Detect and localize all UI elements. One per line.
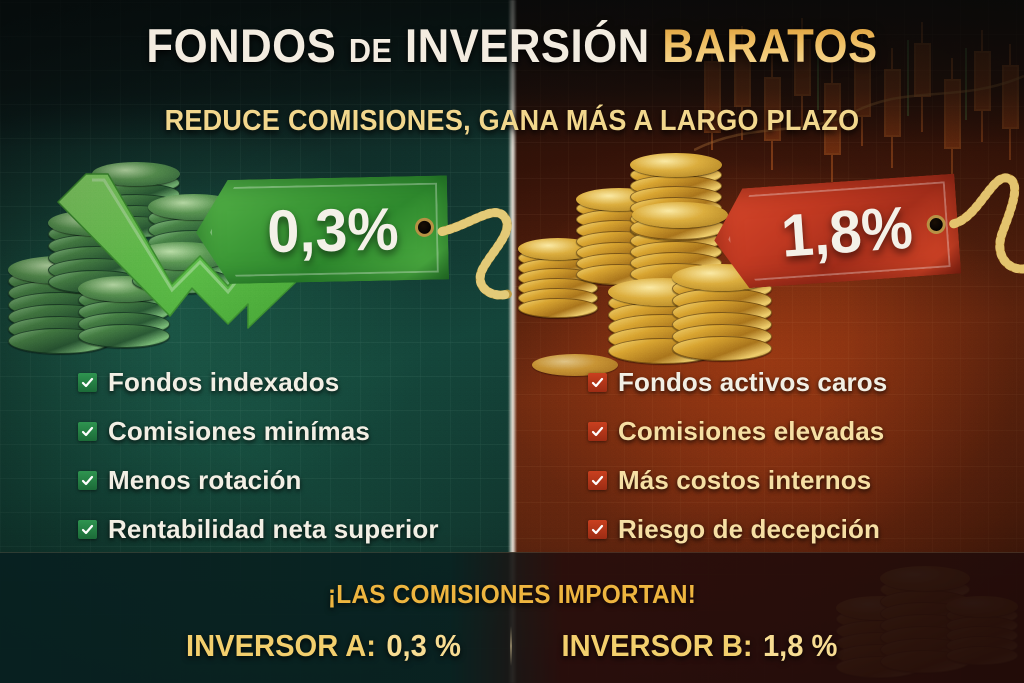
list-item: Fondos indexados xyxy=(78,358,439,407)
infographic-poster: FONDOS DE INVERSIÓN BARATOS REDUCE COMIS… xyxy=(0,0,1024,683)
list-item-label: Riesgo de decepción xyxy=(618,514,880,545)
drawbacks-list-right: Fondos activos caros Comisiones elevadas… xyxy=(588,358,887,554)
list-item: Más costos internos xyxy=(588,456,887,505)
check-icon xyxy=(588,520,607,539)
check-icon xyxy=(588,471,607,490)
list-item: Comisiones elevadas xyxy=(588,407,887,456)
check-icon xyxy=(78,422,97,441)
investor-a-value: 0,3 % xyxy=(386,628,461,664)
check-icon xyxy=(588,373,607,392)
title-part1: FONDOS xyxy=(146,19,336,72)
list-item-label: Fondos activos caros xyxy=(618,367,887,398)
price-tag-green: 0,3% xyxy=(195,175,449,284)
list-item-label: Comisiones elevadas xyxy=(618,416,884,447)
benefits-list-left: Fondos indexados Comisiones minímas Meno… xyxy=(78,358,439,554)
list-item: Rentabilidad neta superior xyxy=(78,505,439,554)
investor-a-label: INVERSOR A: xyxy=(186,628,376,664)
list-item: Menos rotación xyxy=(78,456,439,505)
price-tag-green-value: 0,3% xyxy=(245,194,399,266)
investor-b-label: INVERSOR B: xyxy=(562,628,753,664)
price-tag-green-body: 0,3% xyxy=(195,175,449,284)
footer-headline: ¡LAS COMISIONES IMPORTAN! xyxy=(31,579,994,610)
investor-b-value: 1,8 % xyxy=(763,628,838,664)
list-item-label: Más costos internos xyxy=(618,465,871,496)
page-subtitle: REDUCE COMISIONES, GANA MÁS A LARGO PLAZ… xyxy=(36,105,988,138)
list-item: Riesgo de decepción xyxy=(588,505,887,554)
investor-b-stat: INVERSOR B: 1,8 % xyxy=(522,628,837,664)
check-icon xyxy=(588,422,607,441)
title-part3: INVERSIÓN xyxy=(405,19,650,72)
title-highlight: BARATOS xyxy=(662,19,877,72)
list-item-label: Rentabilidad neta superior xyxy=(108,514,439,545)
check-icon xyxy=(78,471,97,490)
footer-comparison-row: INVERSOR A: 0,3 % INVERSOR B: 1,8 % xyxy=(0,626,1024,666)
price-tag-red-body: 1,8% xyxy=(711,174,961,291)
page-title: FONDOS DE INVERSIÓN BARATOS xyxy=(36,22,988,69)
price-tag-red-value: 1,8% xyxy=(758,192,915,271)
footer-divider xyxy=(510,626,512,666)
list-item: Comisiones minímas xyxy=(78,407,439,456)
investor-a-stat: INVERSOR A: 0,3 % xyxy=(186,628,500,664)
list-item-label: Fondos indexados xyxy=(108,367,339,398)
check-icon xyxy=(78,373,97,392)
list-item-label: Menos rotación xyxy=(108,465,302,496)
check-icon xyxy=(78,520,97,539)
price-tag-red: 1,8% xyxy=(711,174,961,291)
list-item-label: Comisiones minímas xyxy=(108,416,370,447)
list-item: Fondos activos caros xyxy=(588,358,887,407)
title-part2: DE xyxy=(349,32,393,69)
